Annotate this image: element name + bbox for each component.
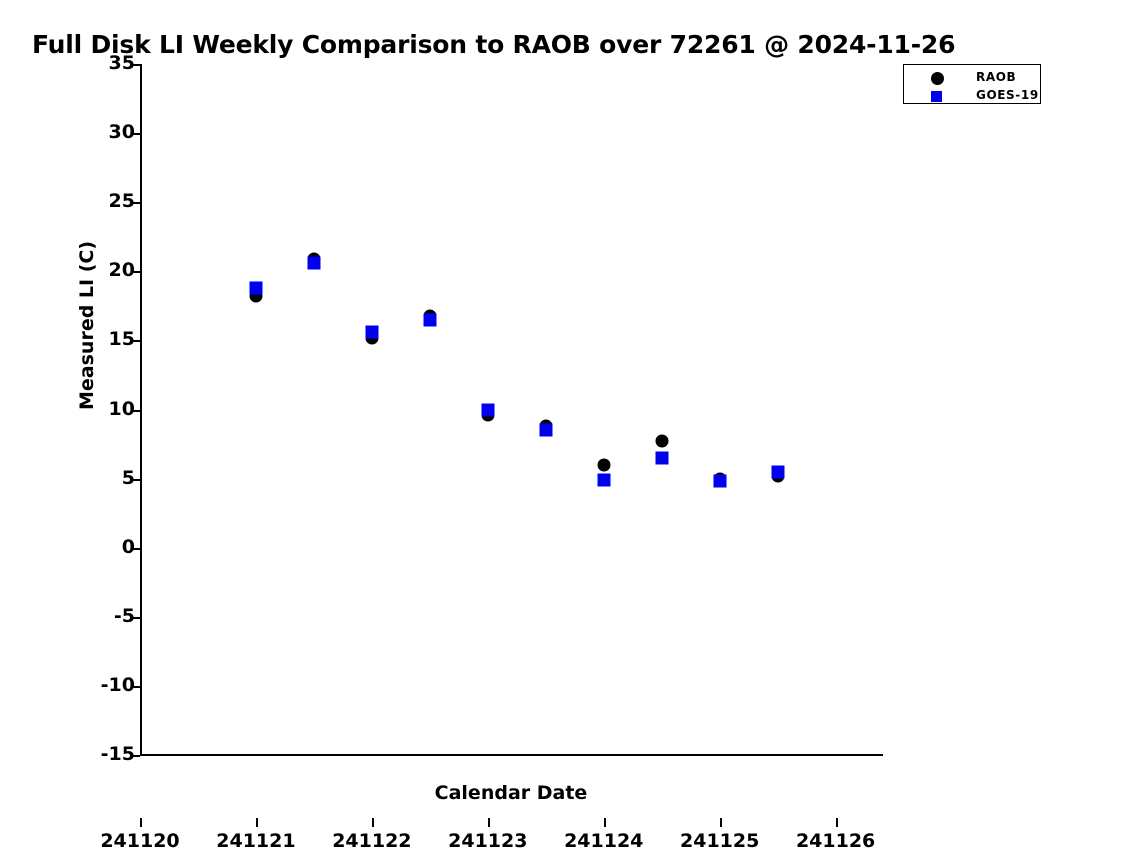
- data-point-goes-19: [307, 257, 320, 270]
- y-axis-label: Measured LI (C): [76, 241, 98, 410]
- data-point-goes-19: [597, 473, 610, 486]
- x-tick-label: 241126: [796, 830, 875, 852]
- plot-area: 35302520151050-5-10-15 24112024112124112…: [140, 64, 882, 755]
- x-tick-label: 241120: [100, 830, 179, 852]
- x-axis-label: Calendar Date: [140, 782, 882, 804]
- data-point-goes-19: [249, 281, 262, 294]
- y-tick-label: 35: [109, 53, 135, 73]
- legend-label-goes19: GOES-19: [976, 88, 1039, 102]
- data-point-raob: [597, 458, 610, 471]
- y-tick-label: -5: [114, 606, 135, 626]
- x-tick-label: 241122: [332, 830, 411, 852]
- y-tick-label: -10: [101, 675, 135, 695]
- y-tick-label: 15: [109, 329, 135, 349]
- y-tick-label: 30: [109, 122, 135, 142]
- y-tick-label: 10: [109, 399, 135, 419]
- x-tick-label: 241125: [680, 830, 759, 852]
- chart-figure: Full Disk LI Weekly Comparison to RAOB o…: [0, 0, 1135, 851]
- x-tick-mark: [488, 818, 490, 827]
- data-point-goes-19: [655, 451, 668, 464]
- data-point-goes-19: [539, 424, 552, 437]
- y-tick-label: 20: [109, 260, 135, 280]
- data-point-goes-19: [771, 465, 784, 478]
- data-point-goes-19: [365, 326, 378, 339]
- x-tick-label: 241124: [564, 830, 643, 852]
- data-point-goes-19: [481, 403, 494, 416]
- x-tick-mark: [256, 818, 258, 827]
- x-tick-mark: [604, 818, 606, 827]
- data-point-goes-19: [713, 475, 726, 488]
- legend-entry-goes19: GOES-19: [904, 86, 1040, 104]
- legend-entry-raob: RAOB: [904, 68, 1040, 86]
- x-tick-mark: [720, 818, 722, 827]
- y-tick-label: 5: [122, 468, 135, 488]
- data-point-goes-19: [423, 313, 436, 326]
- legend-label-raob: RAOB: [976, 70, 1016, 84]
- chart-legend: RAOB GOES-19: [903, 64, 1041, 104]
- x-tick-label: 241121: [216, 830, 295, 852]
- x-tick-mark: [836, 818, 838, 827]
- x-tick-mark: [140, 818, 142, 827]
- x-tick-label: 241123: [448, 830, 527, 852]
- chart-title: Full Disk LI Weekly Comparison to RAOB o…: [32, 30, 955, 59]
- legend-square-icon: [931, 91, 942, 102]
- data-point-raob: [655, 435, 668, 448]
- y-tick-label: 0: [122, 537, 135, 557]
- x-tick-mark: [372, 818, 374, 827]
- y-tick-label: 25: [109, 191, 135, 211]
- y-tick-label: -15: [101, 744, 135, 764]
- legend-circle-icon: [931, 72, 944, 85]
